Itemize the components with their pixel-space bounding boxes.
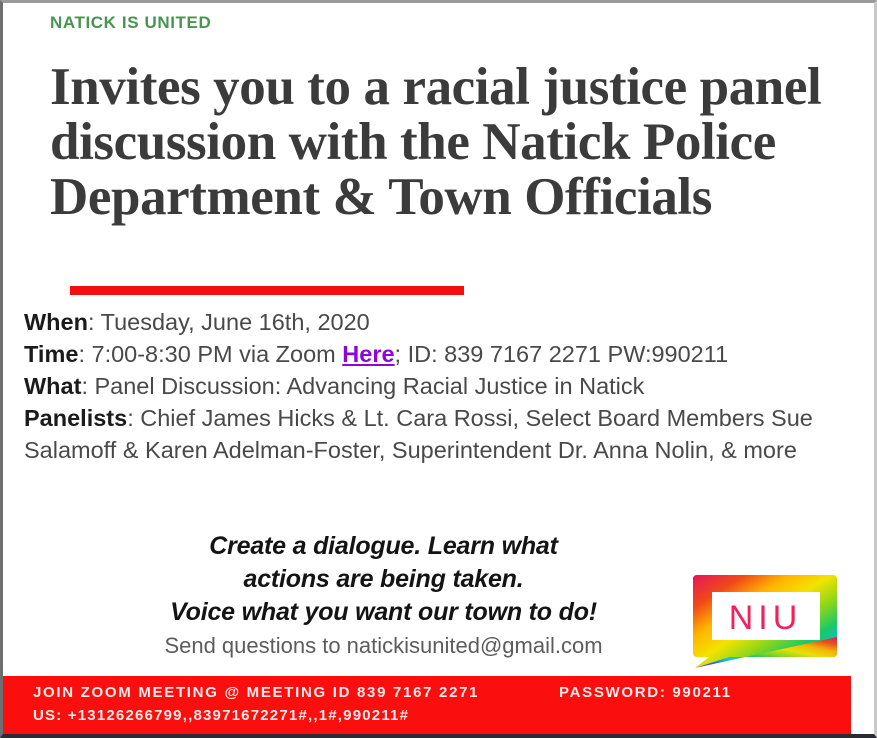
detail-row-panelists: Panelists: Chief James Hicks & Lt. Cara …	[24, 402, 864, 466]
detail-label-panelists: Panelists	[24, 405, 127, 431]
flyer-canvas: NATICK IS UNITED Invites you to a racial…	[0, 0, 877, 738]
detail-value-panelists: : Chief James Hicks & Lt. Cara Rossi, Se…	[24, 405, 813, 463]
niu-logo-text: NIU	[687, 599, 839, 638]
zoom-dial-in-footer: JOIN ZOOM MEETING @ MEETING ID 839 7167 …	[3, 676, 851, 734]
footer-dial-in-number: US: +13126266799,,83971672271#,,1#,99021…	[33, 707, 409, 724]
tagline-line-2: actions are being taken.	[111, 563, 656, 596]
detail-row-when: When: Tuesday, June 16th, 2020	[24, 306, 864, 338]
contact-email-line: Send questions to natickisunited@gmail.c…	[111, 632, 656, 660]
detail-label-time: Time	[24, 341, 78, 367]
footer-password: PASSWORD: 990211	[559, 684, 732, 701]
detail-label-when: When	[24, 309, 88, 335]
tagline-block: Create a dialogue. Learn what actions ar…	[111, 530, 656, 629]
tagline-line-1: Create a dialogue. Learn what	[111, 530, 656, 563]
page-title: Invites you to a racial justice panel di…	[50, 60, 840, 225]
event-details-block: When: Tuesday, June 16th, 2020 Time: 7:0…	[24, 306, 864, 466]
zoom-meeting-link[interactable]: Here	[342, 341, 394, 367]
detail-row-time: Time: 7:00-8:30 PM via Zoom Here; ID: 83…	[24, 338, 864, 370]
organization-eyebrow: NATICK IS UNITED	[50, 13, 211, 33]
detail-value-time-prefix: : 7:00-8:30 PM via Zoom	[78, 341, 342, 367]
detail-value-when: : Tuesday, June 16th, 2020	[88, 309, 370, 335]
detail-row-what: What: Panel Discussion: Advancing Racial…	[24, 370, 864, 402]
footer-meeting-id: JOIN ZOOM MEETING @ MEETING ID 839 7167 …	[33, 684, 479, 701]
niu-logo: NIU	[687, 569, 839, 669]
tagline-line-3: Voice what you want our town to do!	[111, 596, 656, 629]
detail-value-time-suffix: ; ID: 839 7167 2271 PW:990211	[395, 341, 729, 367]
headline-underline-rule	[70, 286, 464, 295]
detail-value-what: : Panel Discussion: Advancing Racial Jus…	[81, 373, 644, 399]
detail-label-what: What	[24, 373, 81, 399]
